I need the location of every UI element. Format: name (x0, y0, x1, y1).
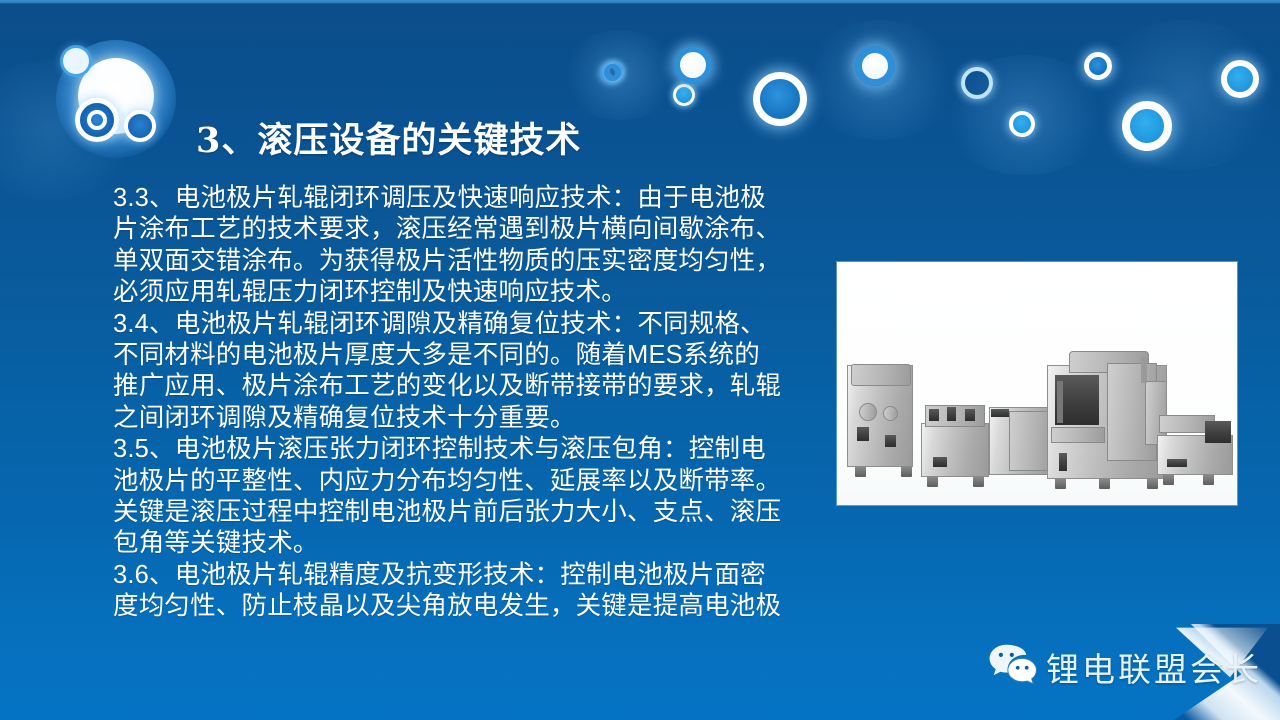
body-text-line: 包角等关键技术。 (113, 528, 825, 559)
logo-ring-circle-icon (75, 98, 119, 142)
top-accent-strip (0, 0, 1280, 4)
bubble-logo-cluster (52, 34, 182, 164)
decorative-bubble-icon (961, 67, 993, 99)
machine-unit-2 (919, 405, 989, 477)
body-text-line: 3.5、电池极片滚压张力闭环控制技术与滚压包角：控制电 (113, 434, 825, 465)
machine-unit-1 (843, 362, 915, 467)
slide-canvas: 3、滚压设备的关键技术 3.3、电池极片轧辊闭环调压及快速响应技术：由于电池极片… (0, 0, 1280, 720)
logo-ring-circle-small-icon (124, 110, 156, 142)
machine-unit-5 (1155, 415, 1235, 475)
roll-press-machine-photo (837, 262, 1237, 505)
decorative-bubble-icon (604, 64, 621, 81)
body-text-line: 3.3、电池极片轧辊闭环调压及快速响应技术：由于电池极 (113, 183, 825, 214)
body-text-line: 度均匀性、防止枝晶以及尖角放电发生，关键是提高电池极 (113, 591, 825, 622)
body-text-block: 3.3、电池极片轧辊闭环调压及快速响应技术：由于电池极片涂布工艺的技术要求，滚压… (113, 183, 825, 623)
decorative-bubble-icon (1122, 101, 1172, 151)
body-text-line: 推广应用、极片涂布工艺的变化以及断带接带的要求，轧辊 (113, 371, 825, 402)
decorative-bubble-icon (1084, 52, 1112, 80)
decorative-bubble-icon (855, 46, 895, 86)
decorative-bubble-icon (1009, 111, 1035, 137)
decorative-bubble-icon (673, 84, 695, 106)
body-text-line: 必须应用轧辊压力闭环控制及快速响应技术。 (113, 277, 825, 308)
body-text-line: 池极片的平整性、内应力分布均匀性、延展率以及断带率。 (113, 466, 825, 497)
decorative-bubble-icon (1221, 60, 1259, 98)
page-title: 3、滚压设备的关键技术 (196, 112, 581, 163)
body-text-line: 3.6、电池极片轧辊精度及抗变形技术：控制电池极片面密 (113, 560, 825, 591)
wechat-icon (988, 643, 1038, 687)
watermark-label: 锂电联盟会长 (1046, 643, 1262, 691)
body-text-line: 3.4、电池极片轧辊闭环调隙及精确复位技术：不同规格、 (113, 309, 825, 340)
body-text-line: 之间闭环调隙及精确复位技术十分重要。 (113, 403, 825, 434)
background-glow (1090, 20, 1280, 170)
photo-inner (837, 262, 1237, 505)
machine-unit-4 (1041, 351, 1169, 479)
body-text-line: 单双面交错涂布。为获得极片活性物质的压实密度均匀性， (113, 246, 825, 277)
body-text-line: 关键是滚压过程中控制电池极片前后张力大小、支点、滚压 (113, 497, 825, 528)
body-text-line: 不同材料的电池极片厚度大多是不同的。随着MES系统的 (113, 340, 825, 371)
logo-small-circle-icon (63, 48, 89, 74)
body-text-line: 片涂布工艺的技术要求，滚压经常遇到极片横向间歇涂布、 (113, 214, 825, 245)
decorative-bubble-icon (674, 46, 712, 84)
decorative-bubble-icon (753, 72, 807, 126)
